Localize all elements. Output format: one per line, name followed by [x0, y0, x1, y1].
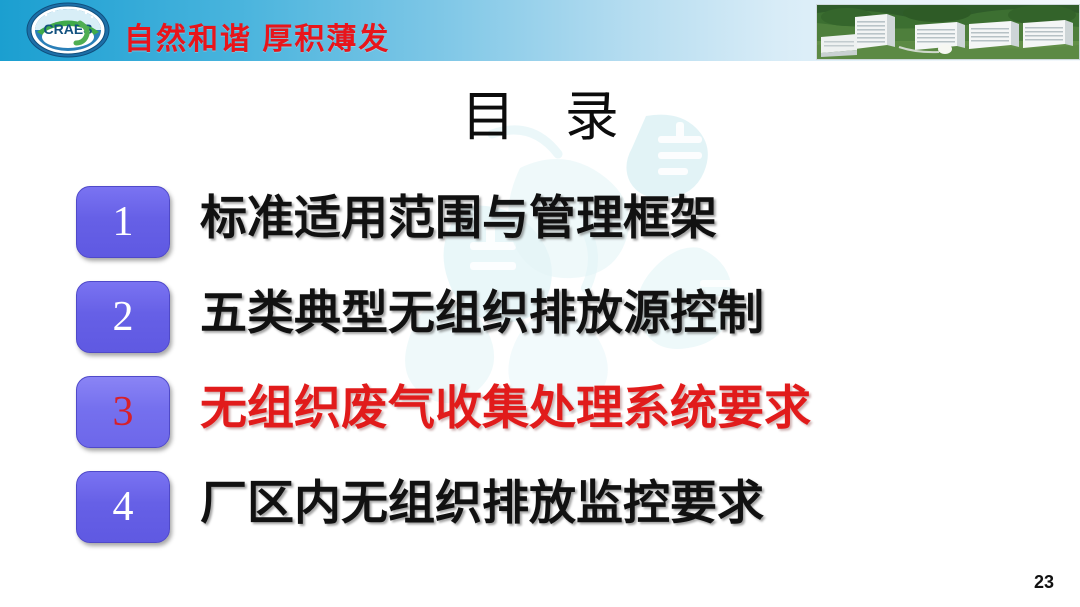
toc-number-badge: 2: [76, 281, 170, 353]
toc-item-label: 无组织废气收集处理系统要求: [200, 372, 811, 444]
toc-item-4[interactable]: 4 厂区内无组织排放监控要求: [0, 467, 1080, 562]
toc-item-3[interactable]: 3 无组织废气收集处理系统要求: [0, 372, 1080, 467]
craes-logo-icon: CRAES: [24, 1, 112, 59]
page-title: 目 录: [0, 72, 1080, 151]
slide-header-banner: CRAES 自然和谐 厚积薄发: [0, 0, 1080, 61]
toc-item-label: 标准适用范围与管理框架: [200, 182, 717, 254]
toc-number-badge: 1: [76, 186, 170, 258]
table-of-contents: 1 标准适用范围与管理框架 2 五类典型无组织排放源控制 3 无组织废气收集处理…: [0, 182, 1080, 562]
toc-item-label: 厂区内无组织排放监控要求: [200, 467, 764, 539]
page-number: 23: [1034, 572, 1054, 593]
toc-item-2[interactable]: 2 五类典型无组织排放源控制: [0, 277, 1080, 372]
toc-number-badge: 4: [76, 471, 170, 543]
toc-item-1[interactable]: 1 标准适用范围与管理框架: [0, 182, 1080, 277]
toc-number-badge: 3: [76, 376, 170, 448]
campus-photo: [816, 4, 1080, 60]
presentation-slide: CRAES 自然和谐 厚积薄发: [0, 0, 1080, 607]
toc-item-label: 五类典型无组织排放源控制: [200, 277, 764, 349]
header-slogan: 自然和谐 厚积薄发: [124, 14, 390, 58]
